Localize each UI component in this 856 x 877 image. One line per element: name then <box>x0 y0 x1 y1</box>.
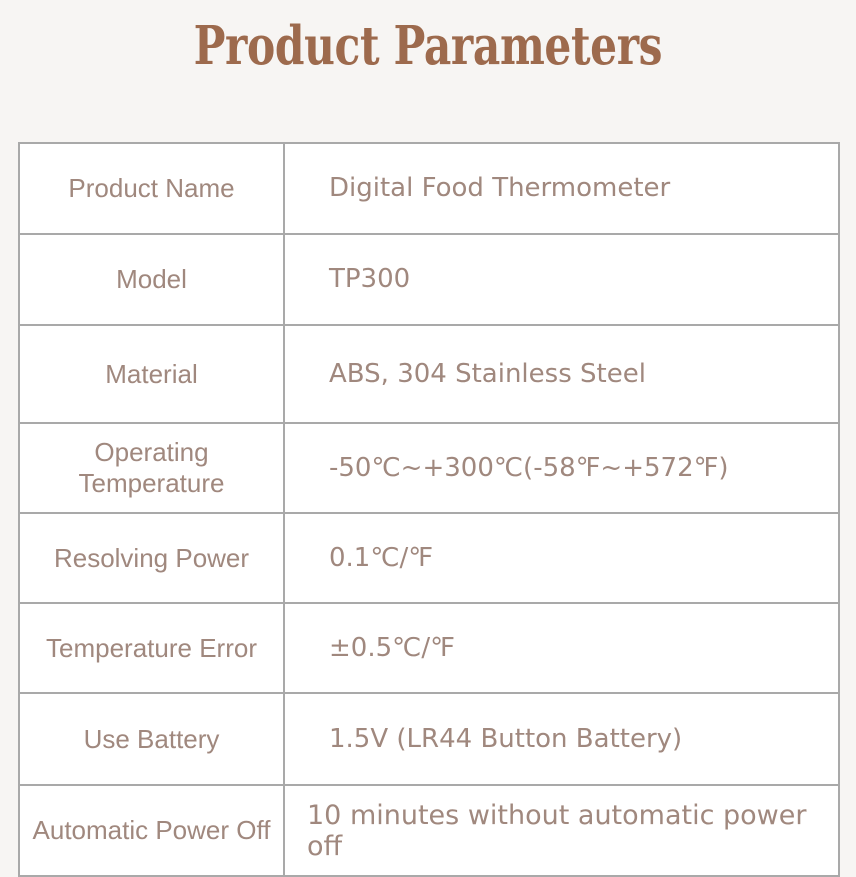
row-value-resolving-power: 0.1℃/℉ <box>284 513 839 603</box>
row-value-material: ABS, 304 Stainless Steel <box>284 325 839 423</box>
row-value-model: TP300 <box>284 234 839 325</box>
page-title-bar: Product Parameters <box>0 14 856 78</box>
row-value-operating-temperature: -50℃~+300℃(-58℉~+572℉) <box>284 423 839 513</box>
row-value-use-battery: 1.5V (LR44 Button Battery) <box>284 693 839 785</box>
row-label-use-battery: Use Battery <box>19 693 284 785</box>
table-row: Temperature Error ±0.5℃/℉ <box>19 603 839 693</box>
row-label-resolving-power: Resolving Power <box>19 513 284 603</box>
table-row: Resolving Power 0.1℃/℉ <box>19 513 839 603</box>
row-value-product-name: Digital Food Thermometer <box>284 143 839 234</box>
table-row: Model TP300 <box>19 234 839 325</box>
table-row: Material ABS, 304 Stainless Steel <box>19 325 839 423</box>
row-label-model: Model <box>19 234 284 325</box>
table-row: Use Battery 1.5V (LR44 Button Battery) <box>19 693 839 785</box>
product-parameters-table: Product Name Digital Food Thermometer Mo… <box>18 142 840 877</box>
row-label-automatic-power-off: Automatic Power Off <box>19 785 284 876</box>
table-body: Product Name Digital Food Thermometer Mo… <box>19 143 839 876</box>
row-label-temperature-error: Temperature Error <box>19 603 284 693</box>
product-parameters-page: Product Parameters Product Name Digital … <box>0 0 856 814</box>
table-row: Product Name Digital Food Thermometer <box>19 143 839 234</box>
row-label-operating-temperature: Operating Temperature <box>19 423 284 513</box>
row-value-automatic-power-off: 10 minutes without automatic power off <box>284 785 839 876</box>
row-label-material: Material <box>19 325 284 423</box>
page-title: Product Parameters <box>194 14 663 78</box>
row-label-product-name: Product Name <box>19 143 284 234</box>
row-value-temperature-error: ±0.5℃/℉ <box>284 603 839 693</box>
table-row: Automatic Power Off 10 minutes without a… <box>19 785 839 876</box>
table-row: Operating Temperature -50℃~+300℃(-58℉~+5… <box>19 423 839 513</box>
